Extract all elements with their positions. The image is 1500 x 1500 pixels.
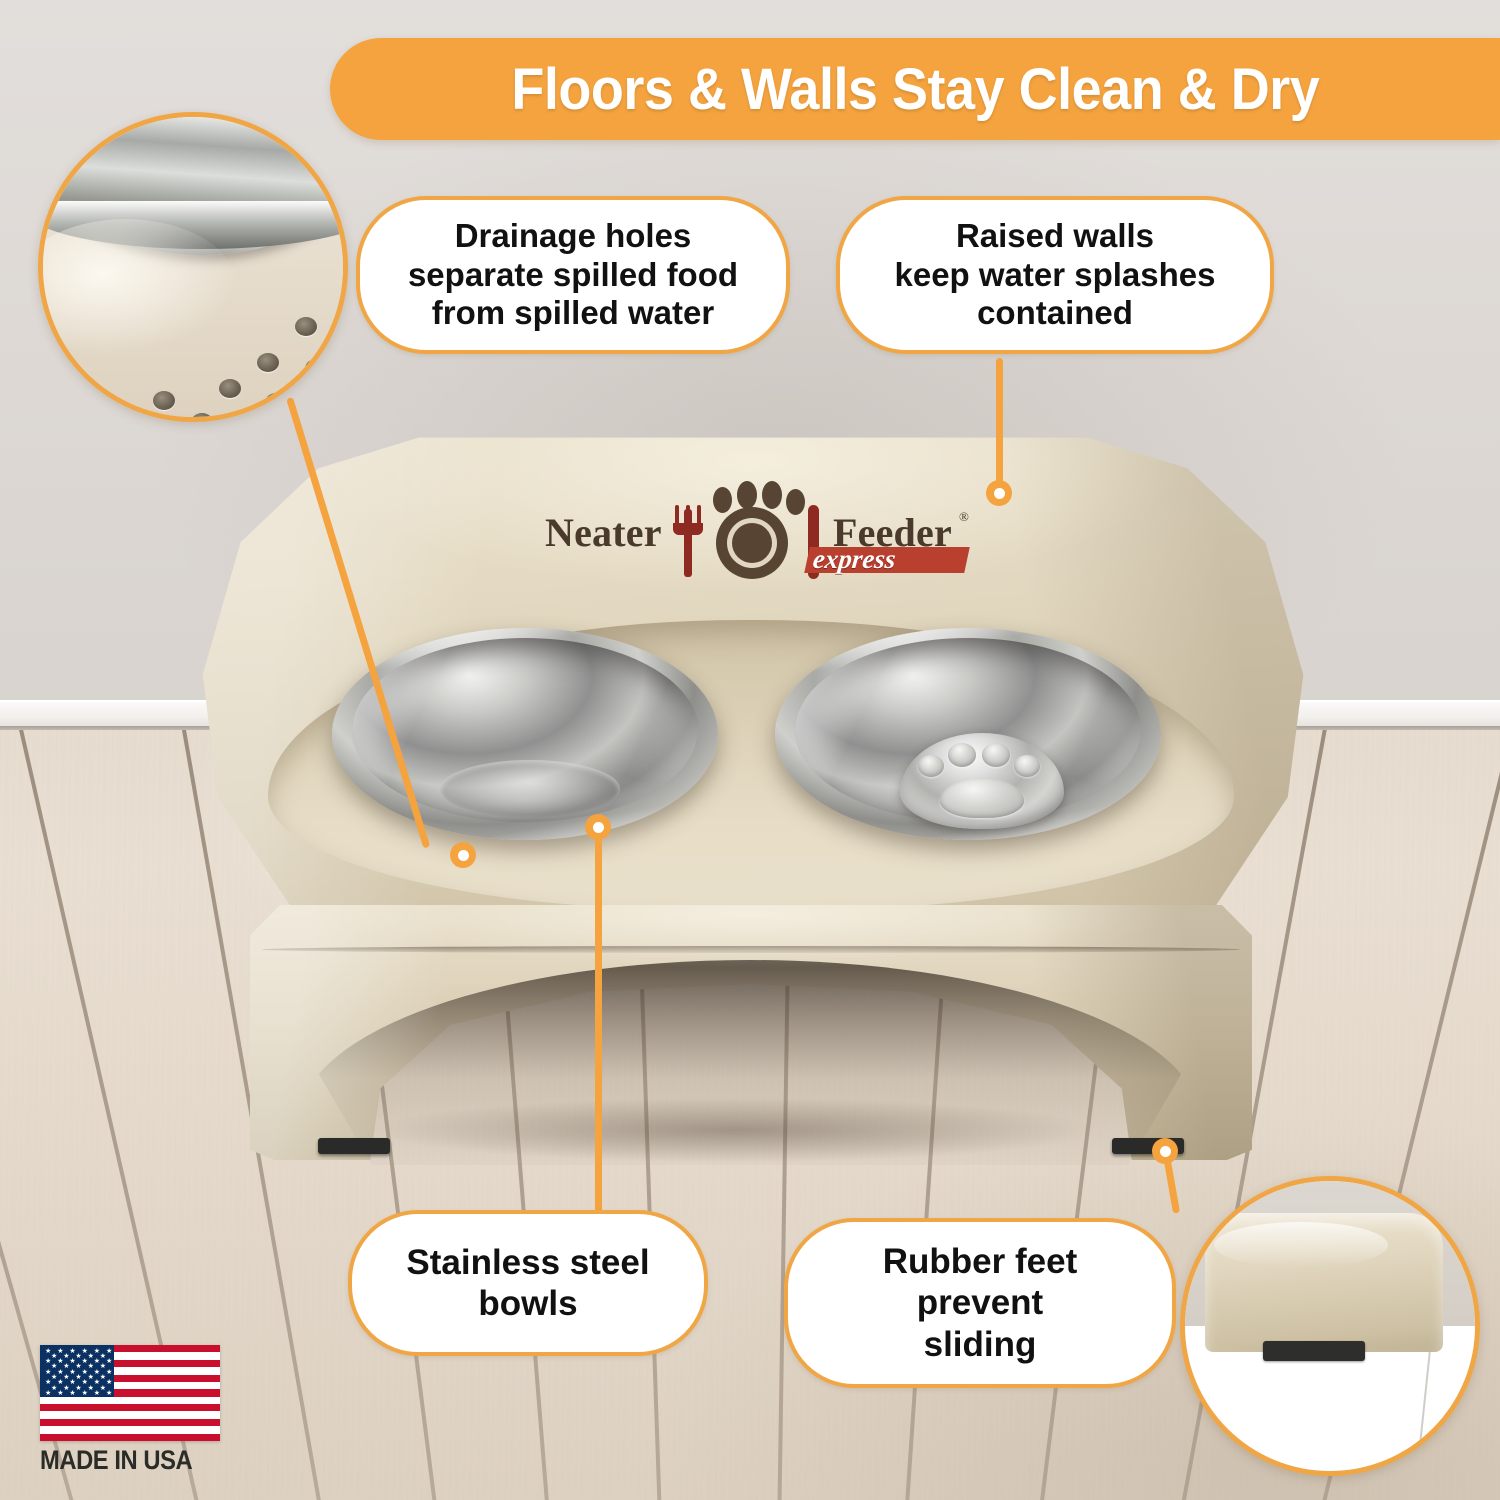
- flag-star: ★: [94, 1370, 100, 1376]
- flag-star: ★: [45, 1380, 51, 1386]
- flag-star: ★: [63, 1364, 69, 1370]
- flag-star: ★: [51, 1386, 57, 1392]
- closeup-leg-gloss: [1214, 1222, 1388, 1268]
- flag-star: ★: [45, 1391, 51, 1397]
- flag-star: ★: [57, 1349, 63, 1355]
- drainage-hole: [295, 317, 317, 336]
- dot-raised-walls: [986, 480, 1012, 506]
- drainage-hole: [257, 353, 279, 372]
- flag-star: ★: [69, 1380, 75, 1386]
- flag-star: ★: [94, 1391, 100, 1397]
- usa-flag-icon: ★★★★★★★★★★★★★★★★★★★★★★★★★★★★★★★★★★★★★★★★…: [40, 1345, 220, 1441]
- header-title: Floors & Walls Stay Clean & Dry: [511, 56, 1319, 123]
- flag-star: ★: [75, 1386, 81, 1392]
- callout-raised-walls-text: Raised walls keep water splashes contain…: [894, 217, 1215, 334]
- rubber-foot-closeup-inset: [1180, 1176, 1480, 1476]
- flag-star: ★: [100, 1375, 106, 1381]
- flag-star: ★: [45, 1359, 51, 1365]
- flag-star: ★: [106, 1349, 112, 1355]
- flag-stripe: [40, 1404, 220, 1411]
- drainage-hole: [103, 417, 125, 422]
- leader-line-stainless-bowls: [595, 822, 602, 1214]
- flag-star: ★: [75, 1375, 81, 1381]
- flag-star: ★: [69, 1391, 75, 1397]
- flag-star: ★: [69, 1359, 75, 1365]
- drainage-hole: [265, 393, 287, 412]
- closeup-rubber-foot: [1263, 1341, 1365, 1361]
- leader-line-raised-walls: [996, 358, 1003, 498]
- flag-star: ★: [100, 1386, 106, 1392]
- flag-star: ★: [45, 1349, 51, 1355]
- flag-star: ★: [75, 1354, 81, 1360]
- flag-star: ★: [45, 1370, 51, 1376]
- flag-star: ★: [82, 1359, 88, 1365]
- flag-star: ★: [82, 1370, 88, 1376]
- flag-star: ★: [106, 1380, 112, 1386]
- flag-star: ★: [69, 1349, 75, 1355]
- flag-star: ★: [57, 1380, 63, 1386]
- flag-star: ★: [100, 1364, 106, 1370]
- callout-stainless-steel-bowls[interactable]: Stainless steel bowls: [348, 1210, 708, 1356]
- callout-stainless-steel-bowls-text: Stainless steel bowls: [406, 1242, 649, 1325]
- flag-star: ★: [57, 1359, 63, 1365]
- flag-star: ★: [57, 1391, 63, 1397]
- flag-star: ★: [51, 1354, 57, 1360]
- dot-drainage-holes: [450, 842, 476, 868]
- flag-stripe: [40, 1434, 220, 1441]
- flag-star: ★: [82, 1391, 88, 1397]
- flag-star: ★: [63, 1354, 69, 1360]
- flag-star: ★: [88, 1375, 94, 1381]
- flag-star: ★: [94, 1359, 100, 1365]
- callout-rubber-feet[interactable]: Rubber feet prevent sliding: [784, 1218, 1176, 1388]
- made-in-usa-label: MADE IN USA: [40, 1445, 198, 1476]
- callout-rubber-feet-text: Rubber feet prevent sliding: [883, 1241, 1077, 1365]
- dot-stainless-bowls: [585, 814, 611, 840]
- flag-star: ★: [100, 1354, 106, 1360]
- flag-star: ★: [88, 1386, 94, 1392]
- made-in-usa-badge: ★★★★★★★★★★★★★★★★★★★★★★★★★★★★★★★★★★★★★★★★…: [40, 1345, 220, 1473]
- flag-star: ★: [94, 1380, 100, 1386]
- flag-star: ★: [51, 1364, 57, 1370]
- flag-star: ★: [63, 1386, 69, 1392]
- flag-star: ★: [106, 1370, 112, 1376]
- flag-star: ★: [63, 1375, 69, 1381]
- callout-drainage-holes-text: Drainage holes separate spilled food fro…: [408, 217, 738, 334]
- flag-star: ★: [57, 1370, 63, 1376]
- drainage-hole: [305, 359, 327, 378]
- flag-star: ★: [106, 1359, 112, 1365]
- flag-star: ★: [88, 1364, 94, 1370]
- flag-stripe: [40, 1419, 220, 1426]
- drainage-hole: [219, 379, 241, 398]
- flag-star: ★: [94, 1349, 100, 1355]
- flag-star: ★: [51, 1375, 57, 1381]
- drainage-holes-closeup-inset: [38, 112, 348, 422]
- flag-star: ★: [69, 1370, 75, 1376]
- flag-star: ★: [75, 1364, 81, 1370]
- drainage-hole: [239, 421, 261, 422]
- dot-rubber-feet: [1152, 1138, 1178, 1164]
- header-banner: Floors & Walls Stay Clean & Dry: [330, 38, 1500, 140]
- flag-star: ★: [106, 1391, 112, 1397]
- leader-line-drainage-holes: [286, 397, 430, 849]
- flag-star: ★: [88, 1354, 94, 1360]
- flag-star: ★: [82, 1380, 88, 1386]
- callout-drainage-holes[interactable]: Drainage holes separate spilled food fro…: [356, 196, 790, 354]
- flag-star: ★: [82, 1349, 88, 1355]
- annotation-overlay: Floors & Walls Stay Clean & Dry Drainage…: [0, 0, 1500, 1500]
- drainage-hole: [153, 391, 175, 410]
- callout-raised-walls[interactable]: Raised walls keep water splashes contain…: [836, 196, 1274, 354]
- drainage-hole: [295, 399, 317, 418]
